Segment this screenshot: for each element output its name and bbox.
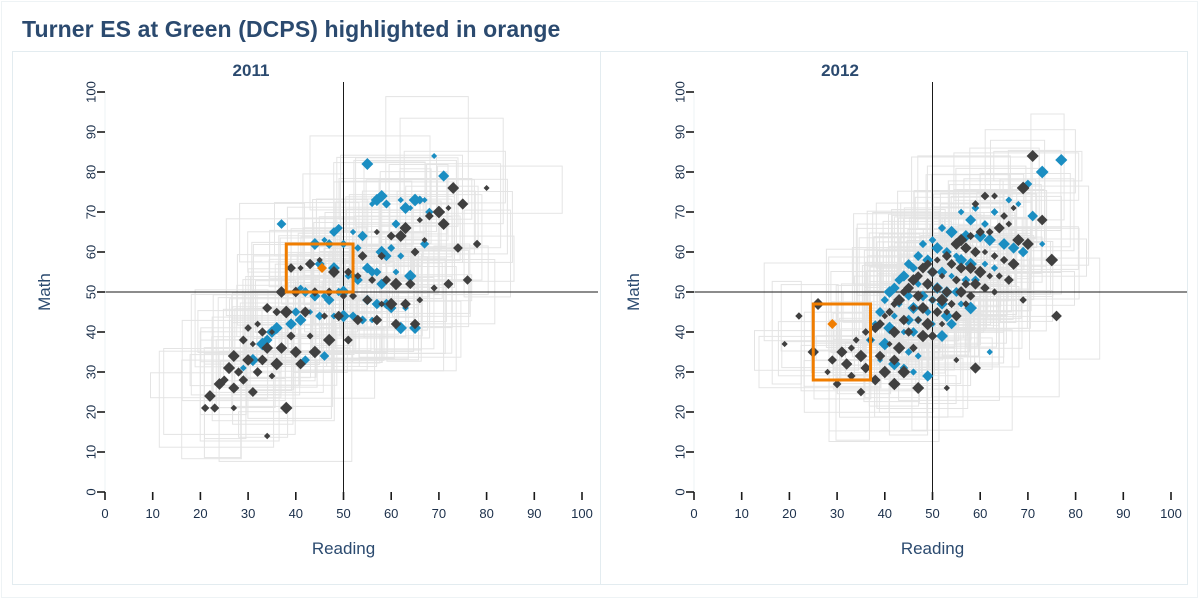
data-point (264, 433, 270, 439)
y-axis-tick-label: 0 (672, 488, 687, 495)
x-axis-tick-label: 50 (336, 506, 350, 521)
data-point (970, 247, 981, 258)
y-axis-tick-label: 30 (672, 365, 687, 379)
x-axis-tick-label: 30 (241, 506, 255, 521)
y-axis-tick-label: 40 (83, 325, 98, 339)
data-point (824, 369, 830, 375)
y-axis-tick-label: 0 (83, 488, 98, 495)
y-axis-tick-label: 80 (83, 165, 98, 179)
x-axis-tick-label: 60 (973, 506, 987, 521)
y-axis-tick-label: 10 (83, 445, 98, 459)
data-point (1055, 154, 1067, 166)
scatter-plot-2011: 0102030405060708090100010203040506070809… (12, 51, 600, 585)
x-axis-tick-label: 70 (432, 506, 446, 521)
y-axis-tick-label: 40 (672, 325, 687, 339)
x-axis-tick-label: 80 (479, 506, 493, 521)
confidence-box (772, 281, 801, 384)
x-axis-tick-label: 50 (925, 506, 939, 521)
y-axis-tick-label: 20 (83, 405, 98, 419)
scatter-plot-2012: 0102030405060708090100010203040506070809… (601, 51, 1189, 585)
y-axis-tick-label: 20 (672, 405, 687, 419)
x-axis-tick-label: 20 (782, 506, 796, 521)
data-point (361, 158, 373, 170)
y-axis-tick-label: 90 (83, 125, 98, 139)
data-point (280, 402, 292, 414)
data-point (253, 367, 263, 377)
x-axis-title: Reading (901, 539, 964, 558)
y-axis-tick-label: 70 (83, 205, 98, 219)
panel-2012: 2012 01020304050607080901000102030405060… (601, 51, 1189, 585)
y-axis-title: Math (35, 273, 54, 311)
y-axis-tick-label: 30 (83, 365, 98, 379)
data-point (210, 403, 219, 412)
data-point (258, 327, 267, 336)
data-point (248, 387, 258, 397)
data-point (277, 219, 287, 229)
data-point (1004, 275, 1014, 285)
data-point (262, 303, 272, 313)
data-point (457, 198, 468, 209)
data-point (257, 355, 268, 366)
y-axis-tick-label: 90 (672, 125, 687, 139)
x-axis-tick-label: 80 (1068, 506, 1082, 521)
x-axis-tick-label: 100 (1160, 506, 1182, 521)
y-axis-tick-label: 60 (83, 245, 98, 259)
y-axis-tick-label: 70 (672, 205, 687, 219)
data-point (484, 185, 490, 191)
data-point (991, 252, 999, 260)
x-axis-tick-label: 10 (145, 506, 159, 521)
page-title: Turner ES at Green (DCPS) highlighted in… (22, 16, 560, 43)
data-point (398, 197, 404, 203)
data-point (1036, 166, 1049, 179)
x-axis-title: Reading (312, 539, 375, 558)
x-axis-tick-label: 90 (1116, 506, 1130, 521)
y-axis-tick-label: 60 (672, 245, 687, 259)
y-axis-tick-label: 10 (672, 445, 687, 459)
chart-page: Turner ES at Green (DCPS) highlighted in… (0, 0, 1200, 600)
confidence-boxes (755, 114, 1100, 442)
data-point (991, 208, 999, 216)
data-point (372, 315, 383, 326)
y-axis-title: Math (624, 273, 643, 311)
x-axis-tick-label: 30 (830, 506, 844, 521)
data-point (447, 182, 459, 194)
x-axis-tick-label: 10 (734, 506, 748, 521)
x-axis-tick-label: 60 (384, 506, 398, 521)
data-point (228, 382, 239, 393)
x-axis-tick-label: 40 (878, 506, 892, 521)
x-axis-tick-label: 0 (101, 506, 108, 521)
x-axis-tick-label: 0 (690, 506, 697, 521)
confidence-box (240, 203, 305, 262)
y-axis-tick-label: 80 (672, 165, 687, 179)
x-axis-tick-label: 40 (289, 506, 303, 521)
data-point (913, 251, 923, 261)
data-point (201, 404, 209, 412)
y-axis-tick-label: 50 (83, 285, 98, 299)
x-axis-tick-label: 100 (571, 506, 593, 521)
data-point (1045, 254, 1058, 267)
x-axis-tick-label: 90 (527, 506, 541, 521)
panel-2011: 2011 01020304050607080901000102030405060… (12, 51, 600, 585)
data-point (1019, 296, 1026, 303)
data-point (350, 229, 356, 235)
x-axis-tick-label: 70 (1021, 506, 1035, 521)
y-axis-tick-label: 100 (83, 81, 98, 103)
y-axis-tick-label: 100 (672, 81, 687, 103)
x-axis-tick-label: 20 (193, 506, 207, 521)
y-axis-tick-label: 50 (672, 285, 687, 299)
